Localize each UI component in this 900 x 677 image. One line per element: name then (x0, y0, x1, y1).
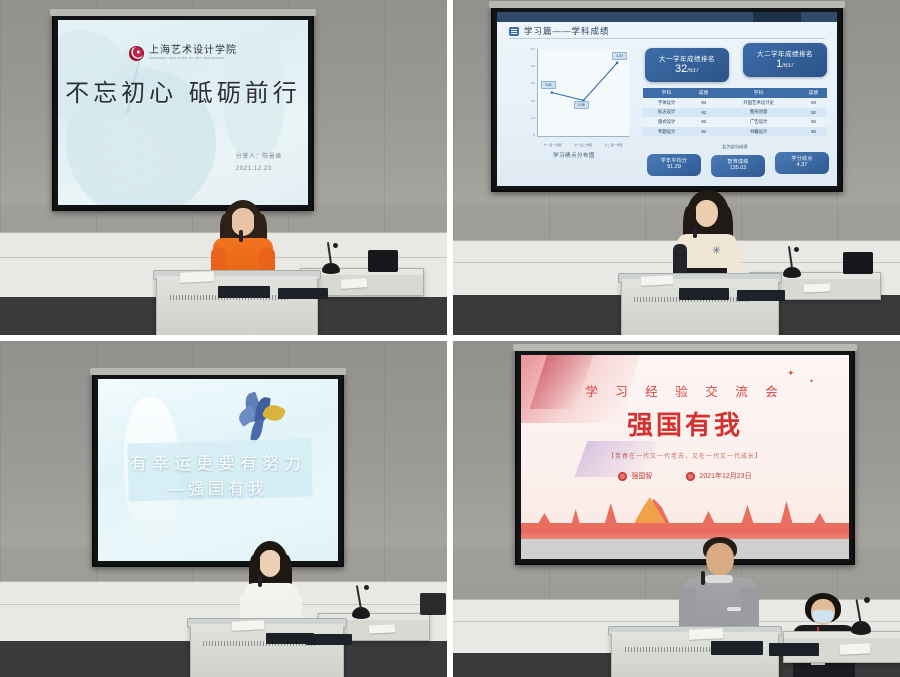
head (706, 543, 734, 576)
laptop-right (368, 250, 398, 272)
gpa-line-chart: 5.04.03.02.01.00 3.52 3.38 4.37 (515, 45, 633, 157)
screen-roller (513, 344, 857, 351)
header-divider (509, 38, 825, 39)
cell: 92 (690, 117, 717, 127)
badge-average-score: 学年平均分 91.29 (647, 154, 701, 176)
chart-point-label: 4.37 (612, 52, 627, 60)
table-row: 字体设计 94 外国艺术设计史 94 (643, 98, 827, 108)
cell: 外国艺术设计史 (717, 98, 800, 108)
badge-value: 91.29 (647, 164, 701, 170)
lectern (190, 623, 344, 677)
chart-x-tick: 大一第一学期 (543, 143, 561, 147)
table-row: 专题设计 91 书籍设计 90 (643, 127, 827, 137)
slide-date-text: 2021年12月23日 (699, 471, 751, 481)
lectern-papers (180, 271, 214, 283)
papers (840, 643, 870, 655)
slide-top-tab (753, 12, 801, 22)
head (259, 550, 281, 577)
gooseneck-microphone (783, 248, 801, 278)
handheld-microphone (701, 571, 705, 585)
mic-head (794, 247, 799, 252)
badge-gpa: 学分绩点 4.37 (775, 152, 829, 174)
mic-base (783, 267, 801, 278)
seal-icon (686, 472, 695, 481)
mic-arm (356, 585, 362, 609)
slide-eyebrow: 学 习 经 验 交 流 会 (521, 381, 849, 400)
badge-label: 大一学年成绩排名 (645, 53, 729, 63)
projector-screen: 学习篇——学科成绩 5.04.03.02.01.00 (491, 6, 843, 192)
badge-suffix: /637 (687, 68, 699, 74)
lectern (621, 278, 779, 338)
slide-header-text: 学习篇——学科成绩 (524, 25, 610, 37)
slide-presenter: 分享人：陈曼娅 (236, 152, 282, 163)
slide-org: 强国智 (618, 471, 652, 481)
slide-meta-row: 强国智 2021年12月23日 (521, 471, 849, 481)
panel-top-right: 学习篇——学科成绩 5.04.03.02.01.00 (450, 0, 900, 338)
mic-head (333, 243, 338, 248)
chest-logo (727, 607, 741, 611)
mic-head (864, 597, 870, 603)
cell: 90 (800, 127, 827, 137)
slide-signature: · · · · · (276, 499, 296, 504)
panel-top-left: 上海艺术设计学院 SHANGHAI INSTITUTE OF ART AND D… (0, 0, 450, 338)
cell: 92 (800, 117, 827, 127)
mic-arm (327, 242, 332, 264)
slide-title-line1: 有幸运更要有努力 (98, 449, 338, 474)
lectern-equipment-2 (769, 643, 819, 656)
cell: 字体设计 (643, 98, 690, 108)
slide-subtitle: 【青春在一代又一代老去，又在一代又一代成长】 (521, 451, 849, 460)
badge-value: 4.37 (775, 162, 829, 168)
collar (705, 575, 733, 583)
subject-scores-table: 学科 成绩 学科 成绩 字体设计 94 外国艺术设计史 94 标志设计 92 (643, 88, 827, 136)
logo-english-name: SHANGHAI INSTITUTE OF ART AND DESIGN (149, 58, 237, 61)
chart-y-ticks: 5.04.03.02.01.00 (515, 47, 535, 137)
papers (369, 624, 395, 633)
lectern-papers (641, 275, 673, 286)
table-row: 标志设计 92 图形创意 92 (643, 108, 827, 118)
chart-x-tick: 大二第一学期 (605, 143, 623, 147)
col-header: 成绩 (800, 88, 827, 98)
face-mask (812, 610, 834, 623)
cell: 图形创意 (717, 108, 800, 118)
mic-head (364, 585, 369, 590)
cell: 版式设计 (643, 117, 690, 127)
gooseneck-microphone (352, 587, 370, 619)
chart-x-ticks: 大一第一学期 大一第二学期 大二第一学期 (537, 143, 629, 147)
slide-date: 2021年12月23日 (686, 471, 751, 481)
handheld-microphone (239, 230, 243, 242)
head (695, 200, 718, 227)
lectern-equipment (218, 286, 270, 298)
badge-value: 1/637 (743, 58, 827, 70)
gooseneck-microphone (322, 244, 340, 274)
logo-chinese-name: 上海艺术设计学院 (149, 46, 237, 56)
badge-year2-rank: 大二学年成绩排名 1/637 (743, 43, 827, 77)
cell: 标志设计 (643, 108, 690, 118)
mic-arm (788, 246, 793, 268)
screen-roller (90, 368, 346, 375)
slide-title-text: 不忘初心 砥砺前行 (65, 73, 301, 108)
col-header: 学科 (717, 88, 800, 98)
seal-icon (618, 472, 627, 481)
slide-date: 2021.12.23 (236, 164, 282, 175)
slide-footer: 分享人：陈曼娅 2021.12.23 (236, 152, 282, 175)
table-row: 版式设计 92 广告设计 92 (643, 117, 827, 127)
slide-quote-3: 有幸运更要有努力 —强国有我 · · · · · (98, 379, 338, 561)
table-header-row: 学科 成绩 学科 成绩 (643, 88, 827, 98)
slide-data-2: 学习篇——学科成绩 5.04.03.02.01.00 (497, 12, 837, 186)
badge-year1-rank: 大一学年成绩排名 32/637 (645, 48, 729, 82)
lectern-equipment (679, 288, 729, 300)
slide-org-text: 强国智 (631, 471, 652, 481)
lectern-equipment (711, 641, 763, 655)
cell: 92 (690, 108, 717, 118)
badge-label: 学年平均分 (647, 157, 701, 164)
chart-x-tick: 大一第二学期 (574, 143, 592, 147)
lectern-equipment-2 (306, 634, 352, 645)
slide-title-4: ✦ ✦ 学 习 经 验 交 流 会 强国有我 【青春在一代又一代老去，又在一代又… (521, 355, 849, 559)
badge-label: 大二学年成绩排名 (743, 48, 827, 58)
badge-label: 智育成绩 (711, 158, 765, 165)
panel-bottom-left: 有幸运更要有努力 —强国有我 · · · · · (0, 338, 450, 677)
dove-icon: ✦ (787, 369, 795, 378)
screen-roller (489, 1, 845, 8)
projector-screen: 上海艺术设计学院 SHANGHAI INSTITUTE OF ART AND D… (52, 14, 314, 211)
slide-title-1: 上海艺术设计学院 SHANGHAI INSTITUTE OF ART AND D… (58, 20, 308, 205)
chart-point-label: 3.38 (574, 101, 589, 109)
skyline-svg (521, 489, 849, 531)
badge-value: 135.02 (711, 165, 765, 171)
handheld-microphone (258, 575, 262, 587)
chart-line-svg (538, 49, 629, 136)
gooseneck-microphone (851, 599, 871, 635)
lectern (156, 275, 318, 338)
snowflake-icon: ✳ (711, 246, 722, 257)
projector-screen: 有幸运更要有努力 —强国有我 · · · · · (92, 373, 344, 567)
projector-screen: ✦ ✦ 学 习 经 验 交 流 会 强国有我 【青春在一代又一代老去，又在一代又… (515, 349, 855, 565)
lectern-face (191, 624, 343, 677)
col-header: 学科 (643, 88, 690, 98)
slide-title-line2: —强国有我 (98, 475, 338, 499)
photo-grid: 上海艺术设计学院 SHANGHAI INSTITUTE OF ART AND D… (0, 0, 900, 677)
screen-roller (50, 9, 316, 16)
badge-label: 学分绩点 (775, 155, 829, 162)
papers (804, 283, 830, 292)
cell: 专题设计 (643, 127, 690, 137)
col-header: 成绩 (690, 88, 717, 98)
cell: 书籍设计 (717, 127, 800, 137)
lectern-papers (232, 620, 264, 631)
table-note: 此为部分成绩 (643, 144, 827, 150)
handheld-microphone (693, 226, 697, 238)
chart-point-label: 3.52 (541, 81, 556, 89)
lectern-equipment-2 (737, 290, 785, 301)
desk-surface (784, 632, 900, 638)
laptop-right (420, 593, 446, 615)
mic-base (322, 263, 340, 274)
chart-plot-area: 3.52 3.38 4.37 (537, 49, 629, 137)
skyline-decor (521, 489, 849, 531)
school-logo: 上海艺术设计学院 SHANGHAI INSTITUTE OF ART AND D… (129, 46, 237, 61)
chart-title: 学习绩点分布图 (515, 151, 633, 159)
laptop-right (843, 252, 873, 274)
book-icon (509, 27, 519, 36)
lectern-papers (689, 628, 723, 640)
badge-suffix: /637 (782, 63, 794, 69)
slide-main-title: 强国有我 (521, 405, 849, 442)
cell: 91 (690, 127, 717, 137)
cell: 94 (800, 98, 827, 108)
cell: 92 (800, 108, 827, 118)
head (231, 208, 255, 236)
papers (341, 278, 368, 289)
cell: 广告设计 (717, 117, 800, 127)
panel-bottom-right: ✦ ✦ 学 习 经 验 交 流 会 强国有我 【青春在一代又一代老去，又在一代又… (450, 338, 900, 677)
slide-header: 学习篇——学科成绩 (509, 25, 610, 37)
logo-spiral-icon (129, 46, 144, 61)
badge-value: 32/637 (645, 63, 729, 75)
lectern-equipment-2 (278, 288, 328, 299)
badge-intellectual-score: 智育成绩 135.02 (711, 155, 765, 177)
cell: 94 (690, 98, 717, 108)
badge-number: 32 (675, 63, 687, 75)
